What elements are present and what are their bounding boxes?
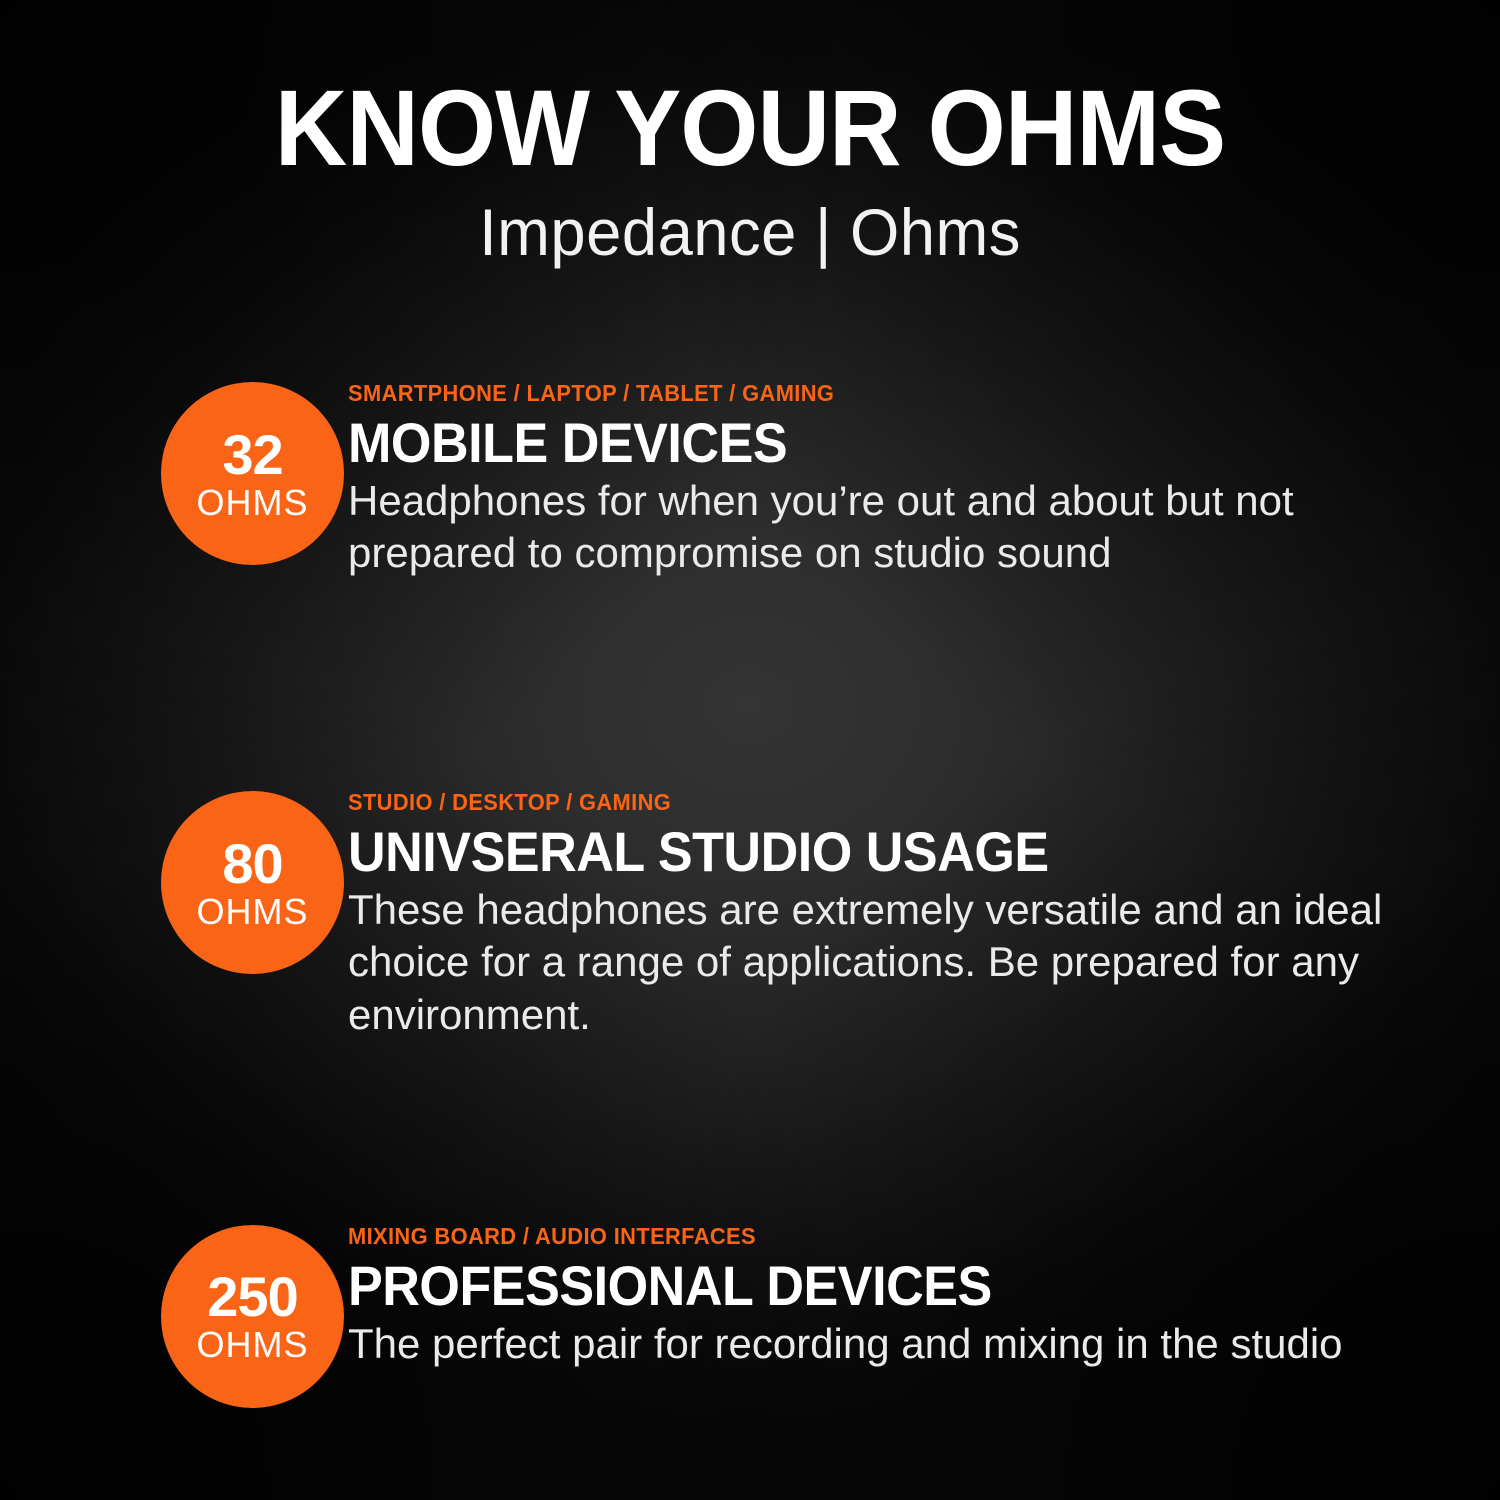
badge-value: 32 xyxy=(222,427,282,483)
list-item: 80 OHMS STUDIO / DESKTOP / GAMING UNIVSE… xyxy=(0,761,1500,1040)
badge-unit: OHMS xyxy=(197,485,309,521)
poster-header: KNOW YOUR OHMS Impedance | Ohms xyxy=(0,74,1500,267)
badge-container: 32 OHMS xyxy=(0,352,348,565)
item-description: These headphones are extremely versatile… xyxy=(348,884,1423,1040)
page-subtitle: Impedance | Ohms xyxy=(30,198,1470,267)
badge-value: 250 xyxy=(207,1269,297,1325)
badge-unit: OHMS xyxy=(197,894,309,930)
impedance-list: 32 OHMS SMARTPHONE / LAPTOP / TABLET / G… xyxy=(0,352,1500,1409)
item-headline: PROFESSIONAL DEVICES xyxy=(348,1257,1364,1314)
item-eyebrow: MIXING BOARD / AUDIO INTERFACES xyxy=(348,1225,1385,1248)
impedance-badge: 32 OHMS xyxy=(161,382,344,565)
item-headline: MOBILE DEVICES xyxy=(348,414,1364,471)
item-eyebrow: SMARTPHONE / LAPTOP / TABLET / GAMING xyxy=(348,382,1385,405)
item-description: Headphones for when you’re out and about… xyxy=(348,475,1408,579)
item-headline: UNIVSERAL STUDIO USAGE xyxy=(348,823,1364,880)
list-item: 250 OHMS MIXING BOARD / AUDIO INTERFACES… xyxy=(0,1195,1500,1409)
item-eyebrow: STUDIO / DESKTOP / GAMING xyxy=(348,791,1385,814)
impedance-badge: 80 OHMS xyxy=(161,791,344,974)
impedance-badge: 250 OHMS xyxy=(161,1225,344,1408)
item-text-block: MIXING BOARD / AUDIO INTERFACES PROFESSI… xyxy=(348,1195,1500,1370)
item-description: The perfect pair for recording and mixin… xyxy=(348,1318,1348,1370)
list-item: 32 OHMS SMARTPHONE / LAPTOP / TABLET / G… xyxy=(0,352,1500,579)
badge-unit: OHMS xyxy=(197,1327,309,1363)
item-text-block: SMARTPHONE / LAPTOP / TABLET / GAMING MO… xyxy=(348,352,1500,579)
page-title: KNOW YOUR OHMS xyxy=(53,74,1448,182)
item-text-block: STUDIO / DESKTOP / GAMING UNIVSERAL STUD… xyxy=(348,761,1500,1040)
badge-container: 250 OHMS xyxy=(0,1195,348,1408)
badge-value: 80 xyxy=(222,836,282,892)
infographic-poster: KNOW YOUR OHMS Impedance | Ohms 32 OHMS … xyxy=(0,0,1500,1500)
badge-container: 80 OHMS xyxy=(0,761,348,974)
